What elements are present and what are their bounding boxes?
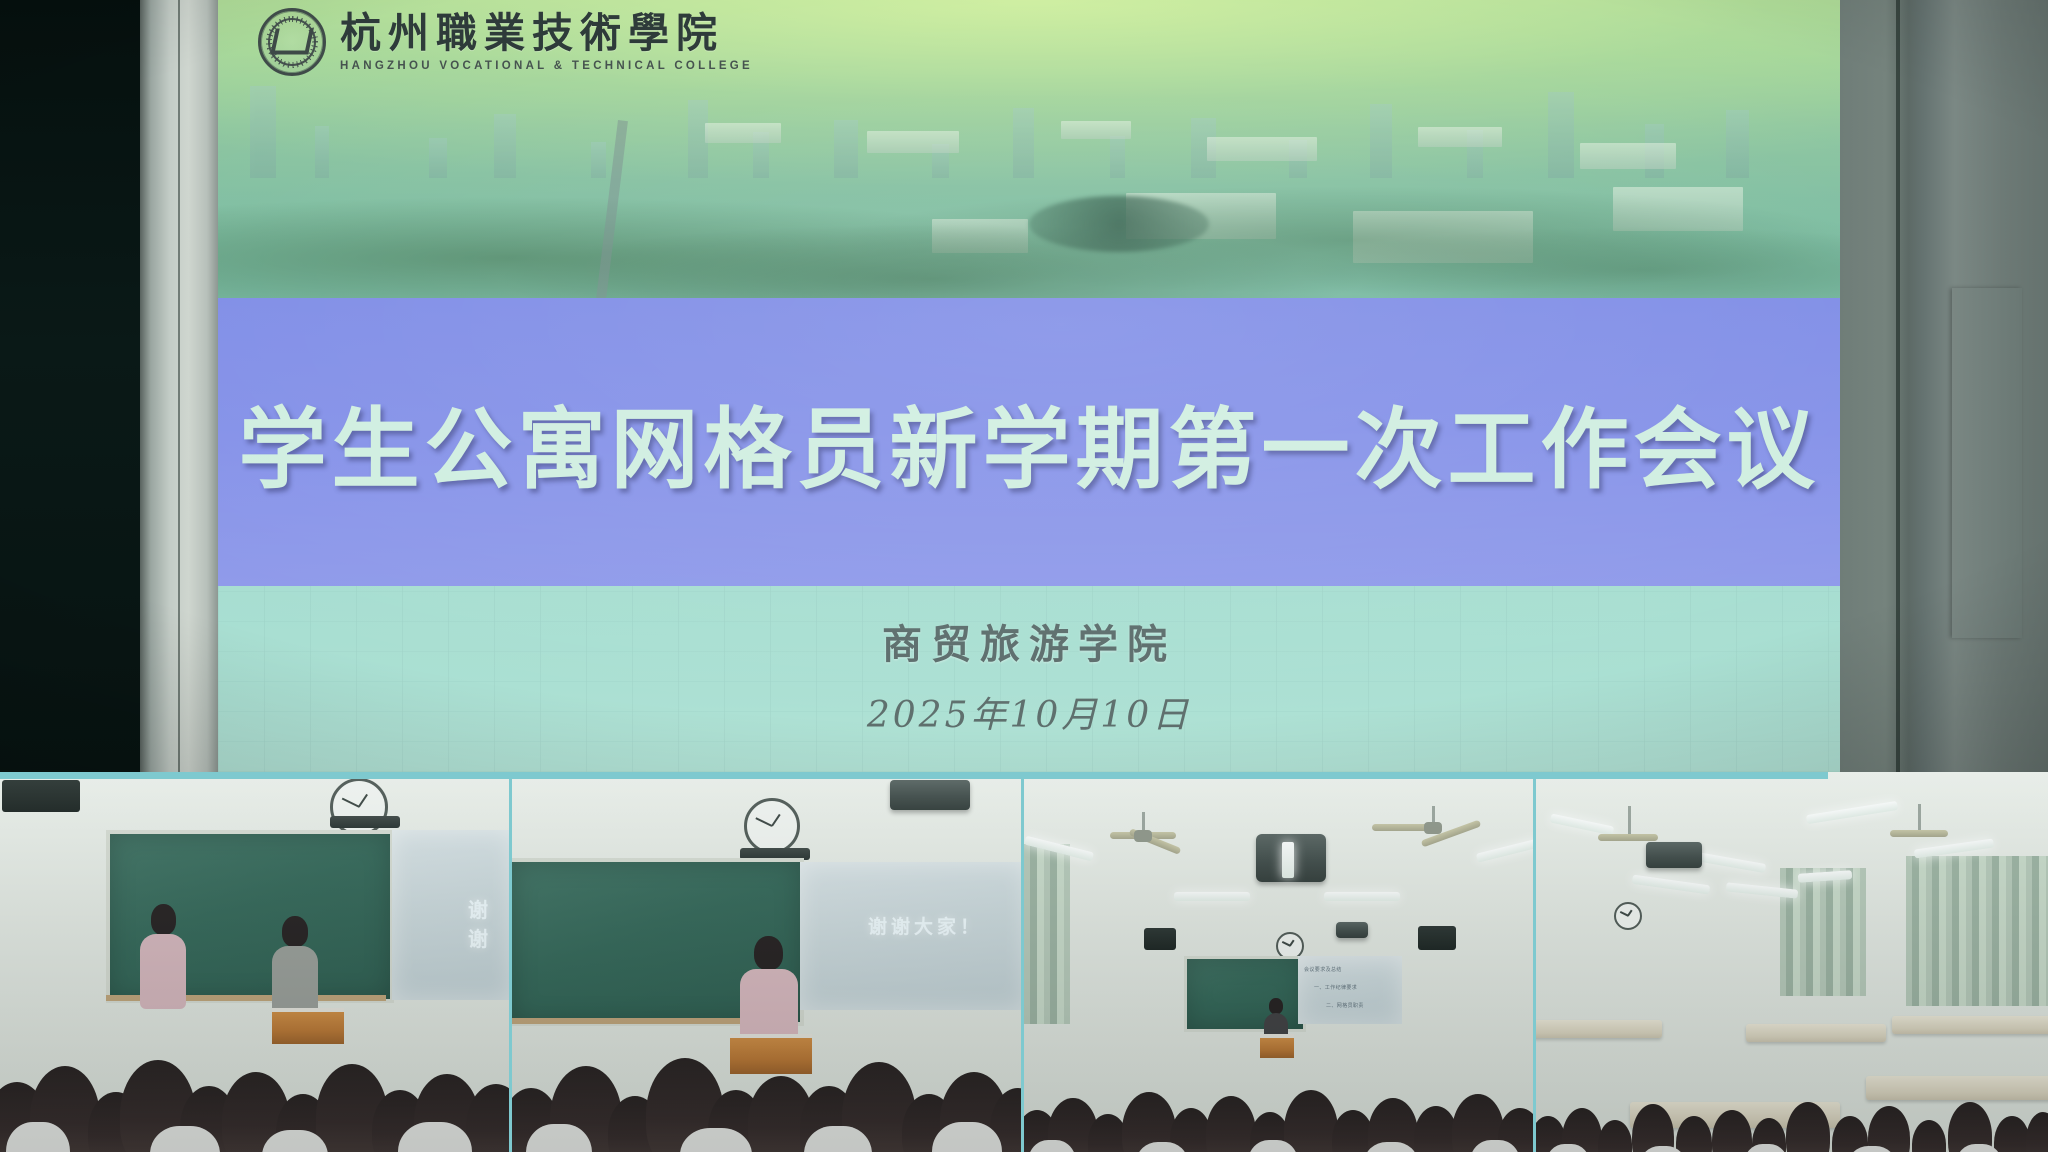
slide-organization: 商贸旅游学院 — [218, 612, 1840, 670]
photo-panel-1: 谢谢 — [0, 772, 512, 1152]
college-brand: 杭州職業技術學院 HANGZHOU VOCATIONAL & TECHNICAL… — [258, 8, 753, 76]
brand-text: 杭州職業技術學院 HANGZHOU VOCATIONAL & TECHNICAL… — [340, 12, 753, 71]
pillar-seam — [178, 0, 180, 772]
college-name-cn: 杭州職業技術學院 — [340, 12, 753, 55]
slide-date: 2025年10月10日 — [218, 686, 1840, 738]
photo-strip: 谢谢 — [0, 772, 2048, 1152]
presentation-slide: 杭州職業技術學院 HANGZHOU VOCATIONAL & TECHNICAL… — [218, 0, 1840, 772]
screenshot-root: 杭州職業技術學院 HANGZHOU VOCATIONAL & TECHNICAL… — [0, 0, 2048, 1152]
slide-title: 学生公寓网格员新学期第一次工作会议 — [238, 379, 1819, 506]
dark-room-wall-left — [0, 0, 150, 772]
college-seal-icon — [258, 8, 326, 76]
slide-title-band: 学生公寓网格员新学期第一次工作会议 — [218, 298, 1840, 586]
college-name-en: HANGZHOU VOCATIONAL & TECHNICAL COLLEGE — [340, 60, 753, 72]
photo-panel-4 — [1536, 772, 2048, 1152]
seal-ring-decoration — [263, 13, 321, 71]
photo-panel-3: 会议要求及总结 一、工作纪律要求 二、网格员职责 — [1024, 772, 1536, 1152]
projected-slide-photo: 杭州職業技術學院 HANGZHOU VOCATIONAL & TECHNICAL… — [0, 0, 2048, 772]
photo-panel-2: 谢谢大家！ — [512, 772, 1024, 1152]
slide-footer-band: 商贸旅游学院 2025年10月10日 — [218, 586, 1840, 772]
campus-aerial-photo: 杭州職業技術學院 HANGZHOU VOCATIONAL & TECHNICAL… — [218, 0, 1840, 298]
wall-mounted-panel — [1952, 288, 2022, 638]
campus-pond — [1029, 196, 1209, 252]
